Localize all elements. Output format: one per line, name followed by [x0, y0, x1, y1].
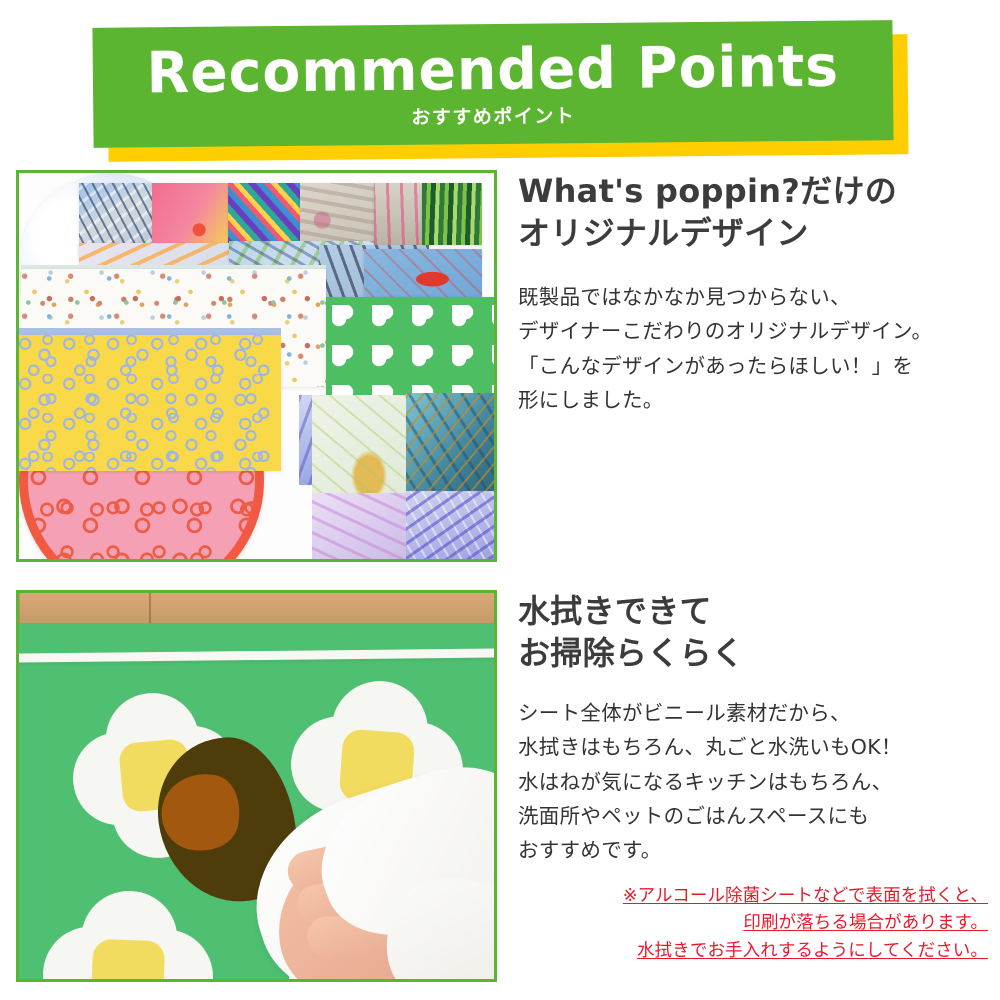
body-line: 水はねが気になるキッチンはもちろん、	[518, 770, 892, 794]
note-line: ※アルコール除菌シートなどで表面を拭くと、	[623, 886, 988, 906]
pattern-sheet-pink-abstract	[152, 183, 228, 243]
heading-line-2: お掃除らくらく	[518, 634, 744, 672]
text-column-design: What's poppin?だけの オリジナルデザイン 既製品ではなかなか見つか…	[518, 170, 988, 417]
wood-plank-seam	[149, 593, 151, 623]
body-line: おすすめです。	[518, 838, 662, 862]
page-title: Recommended Points	[146, 38, 839, 102]
header-banner: Recommended Points おすすめポイント	[0, 0, 1000, 170]
body-line: 洗面所やペットのごはんスペースにも	[518, 804, 869, 828]
body-line: 水拭きはもちろん、丸ごと水洗いもOK！	[518, 735, 902, 759]
page-subtitle: おすすめポイント	[411, 107, 575, 128]
feature-section-cleaning: 水拭きできて お掃除らくらく シート全体がビニール素材だから、 水拭きはもちろん…	[0, 590, 1000, 990]
care-warning-note: ※アルコール除菌シートなどで表面を拭くと、 印刷が落ちる場合があります。 水拭き…	[518, 883, 988, 966]
body-line: シート全体がビニール素材だから、	[518, 701, 851, 725]
body-line: デザイナーこだわりのオリジナルデザイン。	[518, 319, 932, 343]
cleaning-demo-photo	[19, 593, 494, 979]
photo-frame-design	[16, 170, 497, 562]
banner-main-layer: Recommended Points おすすめポイント	[92, 20, 893, 148]
heading-line-1: What's poppin?だけの	[518, 172, 897, 210]
section-heading-cleaning: 水拭きできて お掃除らくらく	[518, 590, 988, 674]
pattern-sheet-concrete-2	[374, 183, 422, 245]
photo-frame-cleaning	[16, 590, 497, 982]
pattern-sheet-green-stripes	[422, 183, 482, 245]
section-heading-design: What's poppin?だけの オリジナルデザイン	[518, 170, 988, 254]
heading-line-2: オリジナルデザイン	[518, 214, 809, 252]
note-line: 印刷が落ちる場合があります。	[743, 913, 988, 933]
pattern-sheet-marble-teal	[406, 393, 497, 505]
pattern-sheet-marble-pink	[312, 493, 412, 562]
pattern-sheet-yellow-squiggle	[19, 335, 281, 471]
wood-floor-strip	[19, 593, 494, 623]
mat-top-edge	[19, 648, 494, 662]
pattern-sheet-concrete-1	[300, 183, 374, 245]
feature-section-design: What's poppin?だけの オリジナルデザイン 既製品ではなかなか見つか…	[0, 170, 1000, 570]
body-line: 「こんなデザインがあったらほしい！」を	[518, 354, 913, 378]
body-line: 形にしました。	[518, 388, 664, 412]
heading-line-1: 水拭きできて	[518, 592, 712, 630]
pattern-sheet-green-daisy	[326, 297, 497, 397]
section-body-design: 既製品ではなかなか見つからない、 デザイナーこだわりのオリジナルデザイン。 「こ…	[518, 280, 988, 416]
daisy-motif	[40, 888, 216, 979]
pattern-sheet-marble-blue	[406, 491, 497, 562]
note-line: 水拭きでお手入れするようにしてください。	[637, 941, 988, 961]
pattern-sheet-rainbow-graffiti	[228, 183, 300, 245]
body-line: 既製品ではなかなか見つからない、	[518, 285, 851, 309]
pattern-sheet-marble-gold	[312, 395, 407, 507]
text-column-cleaning: 水拭きできて お掃除らくらく シート全体がビニール素材だから、 水拭きはもちろん…	[518, 590, 988, 965]
design-collage-photo	[19, 173, 494, 559]
promo-page: Recommended Points おすすめポイント	[0, 0, 1000, 1000]
section-body-cleaning: シート全体がビニール素材だから、 水拭きはもちろん、丸ごと水洗いもOK！ 水はね…	[518, 696, 988, 866]
daisy-center	[91, 939, 165, 979]
